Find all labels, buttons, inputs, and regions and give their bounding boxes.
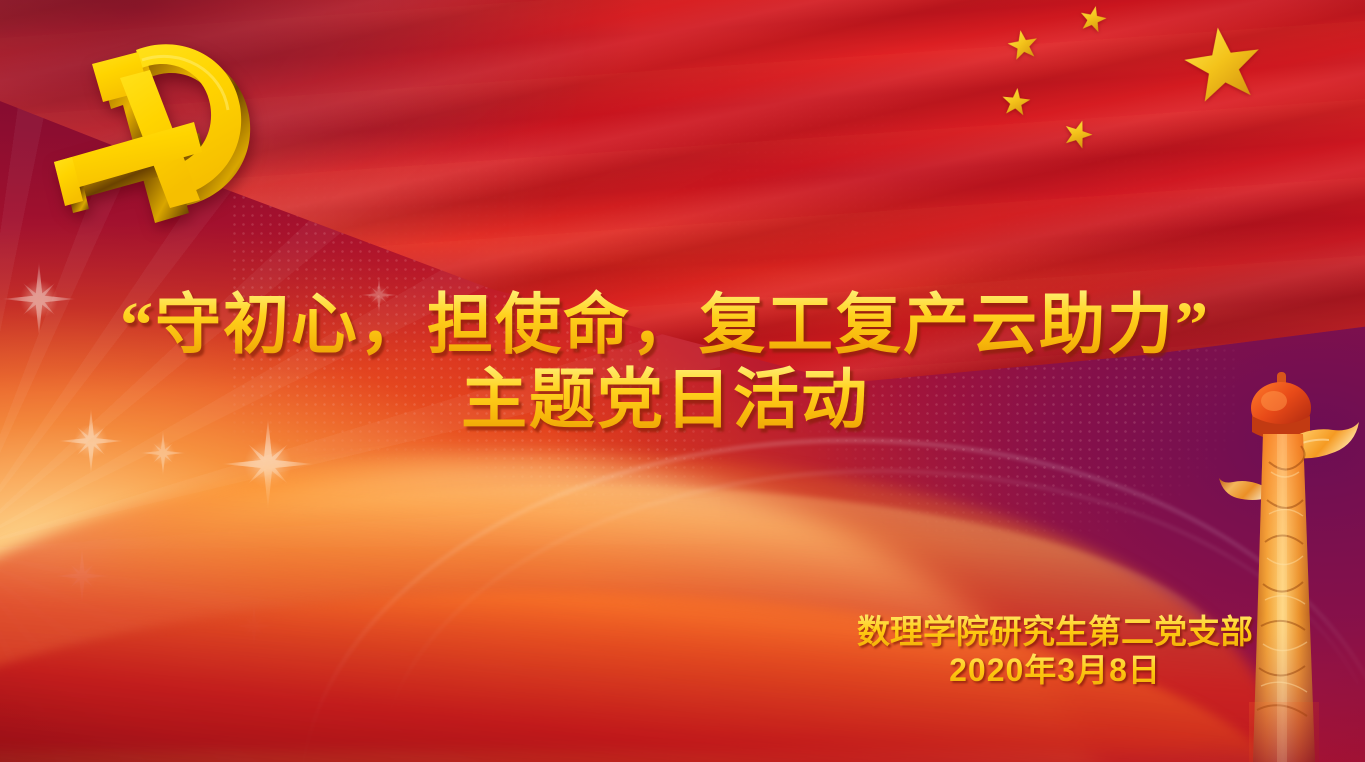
footer-organization: 数理学院研究生第二党支部 (857, 613, 1253, 652)
footer-date: 2020年3月8日 (857, 652, 1253, 690)
poster-footer: 数理学院研究生第二党支部 2020年3月8日 (857, 613, 1253, 690)
poster-canvas: “守初心，担使命，复工复产云助力” 主题党日活动 数理学院研究生第二党支部 20… (0, 0, 1365, 762)
poster-title: “守初心，担使命，复工复产云助力” 主题党日活动 (0, 288, 1330, 438)
title-line-1: “守初心，担使命，复工复产云助力” (0, 288, 1330, 363)
title-line-2: 主题党日活动 (0, 363, 1330, 438)
